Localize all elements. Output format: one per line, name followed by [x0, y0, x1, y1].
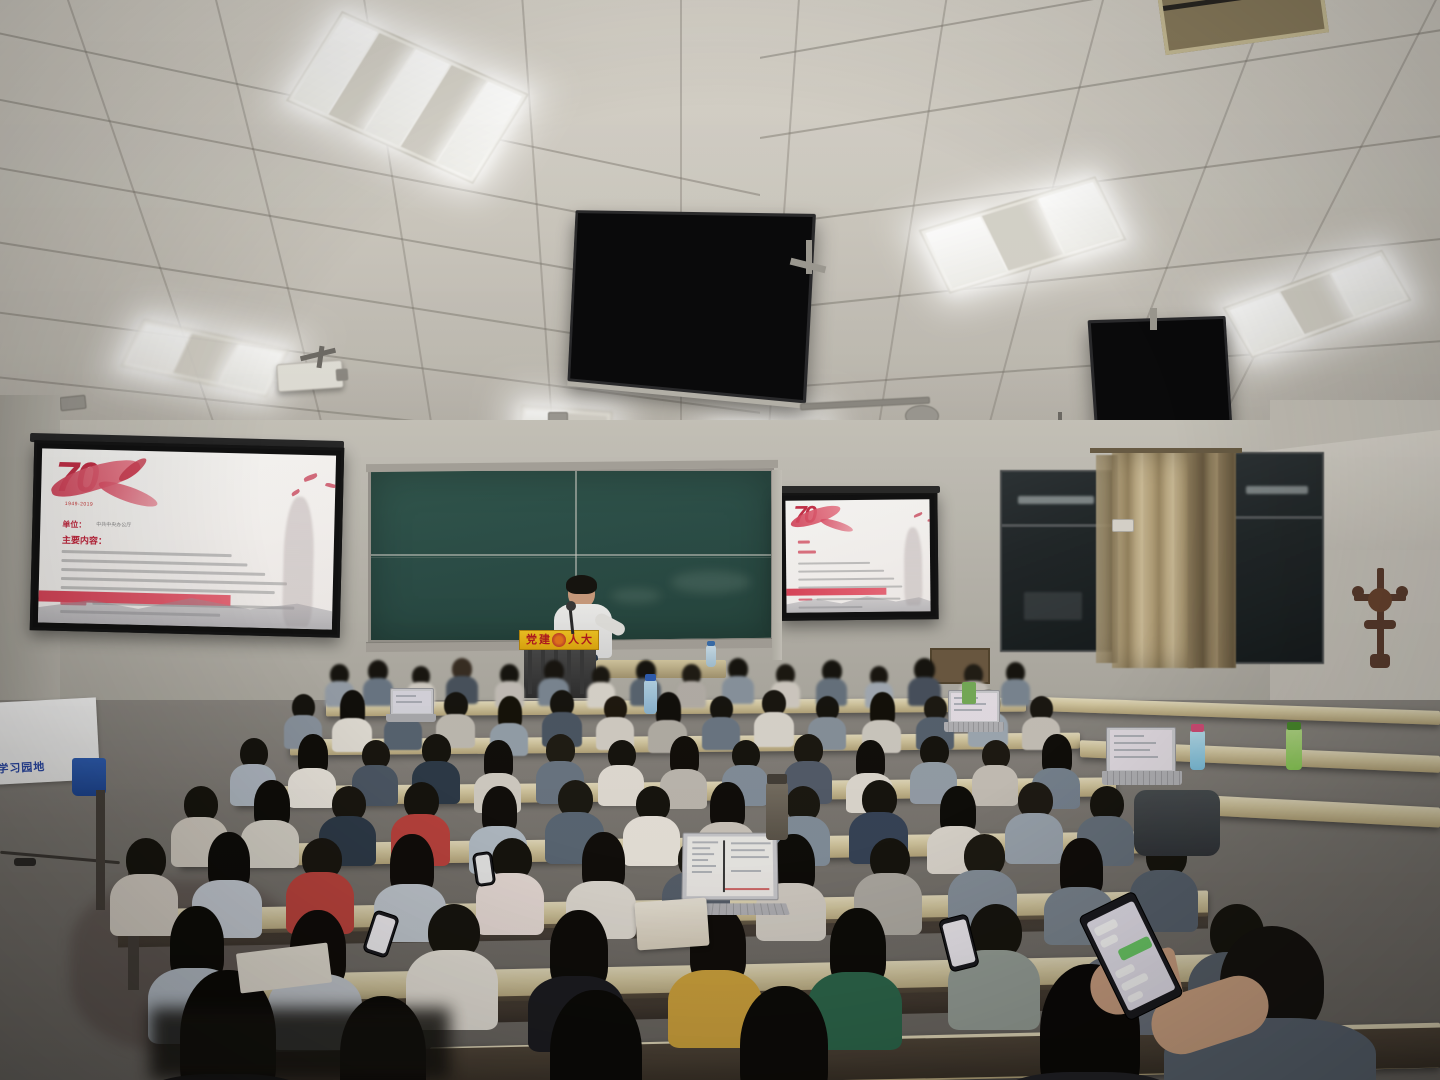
curtain-right-1 — [1112, 452, 1194, 668]
slide-heading-2-left: 主要内容： — [62, 533, 107, 547]
backpack — [1134, 790, 1220, 856]
podium-sign-char-2: 建 — [539, 635, 550, 646]
curtain-rod — [1090, 448, 1242, 453]
water-bottle-center — [644, 680, 657, 714]
laptop-left-rear-screen — [393, 691, 431, 713]
curtain-right-3 — [1096, 455, 1118, 663]
water-bottle-center-cap — [645, 674, 656, 681]
projector-left — [276, 360, 344, 393]
window-right-2 — [1232, 452, 1324, 664]
stage-bottle-cap — [707, 641, 715, 646]
lecture-hall-photo: 70 1949-2019 单位： 中共中央办公厅 主要内容： — [0, 0, 1440, 1080]
slide-heading-1-left: 单位： — [62, 519, 86, 531]
thermos-center-cap — [767, 774, 787, 784]
curtain-right-2 — [1188, 450, 1236, 668]
wall-pillar-center — [772, 470, 782, 660]
laptop-right-front[interactable] — [1104, 727, 1182, 789]
podium-sign-char-4: 大 — [581, 635, 592, 646]
projection-screen-right[interactable]: 70 — [777, 491, 938, 621]
water-bottle-far-right-cap — [1287, 722, 1301, 730]
chat-bubble-sent — [1117, 936, 1153, 962]
slide-logo-sub-left: 1949-2019 — [65, 501, 94, 508]
slide-left: 70 1949-2019 单位： 中共中央办公厅 主要内容： — [38, 448, 336, 629]
slide-figure-right — [904, 527, 923, 605]
water-bottle-right — [1190, 730, 1205, 770]
wall-banner-text: 学习园地 — [0, 758, 46, 776]
monitor-mount-right — [1150, 308, 1157, 330]
podium-sign-char-3: 人 — [568, 635, 579, 646]
wall-switch-box[interactable] — [1112, 519, 1134, 532]
monitor-mount-center-post — [806, 240, 812, 274]
podium-seal-icon — [552, 633, 566, 647]
thermos-center — [766, 782, 788, 840]
phone-row5-screen[interactable] — [475, 854, 493, 884]
foreground-shadow-left — [150, 1008, 450, 1080]
cup-green — [962, 682, 976, 704]
wall-ornament — [1352, 568, 1408, 668]
paper-bag — [634, 898, 709, 951]
podium-sign-char-1: 党 — [526, 635, 537, 646]
laptop-left-rear[interactable] — [388, 688, 436, 726]
microphone-head — [566, 601, 576, 611]
laptop-right-front-screen — [1110, 730, 1172, 770]
projection-screen-left[interactable]: 70 1949-2019 单位： 中共中央办公厅 主要内容： — [30, 440, 345, 638]
water-bottle-right-cap — [1191, 724, 1204, 732]
desk-legs-left — [96, 790, 105, 910]
slide-heading-1-note-left: 中共中央办公厅 — [96, 521, 131, 529]
hanging-monitor-center — [567, 210, 815, 403]
ceiling-speaker-left — [59, 395, 86, 412]
screen-roller-right — [776, 486, 940, 493]
laptop-center-screen — [687, 836, 774, 896]
water-bottle-far-right — [1286, 728, 1302, 770]
slide-right: 70 — [785, 499, 930, 613]
presenter-hair — [566, 575, 597, 594]
floor-object — [14, 858, 36, 866]
podium-sign: 党 建 人 大 — [519, 630, 599, 650]
